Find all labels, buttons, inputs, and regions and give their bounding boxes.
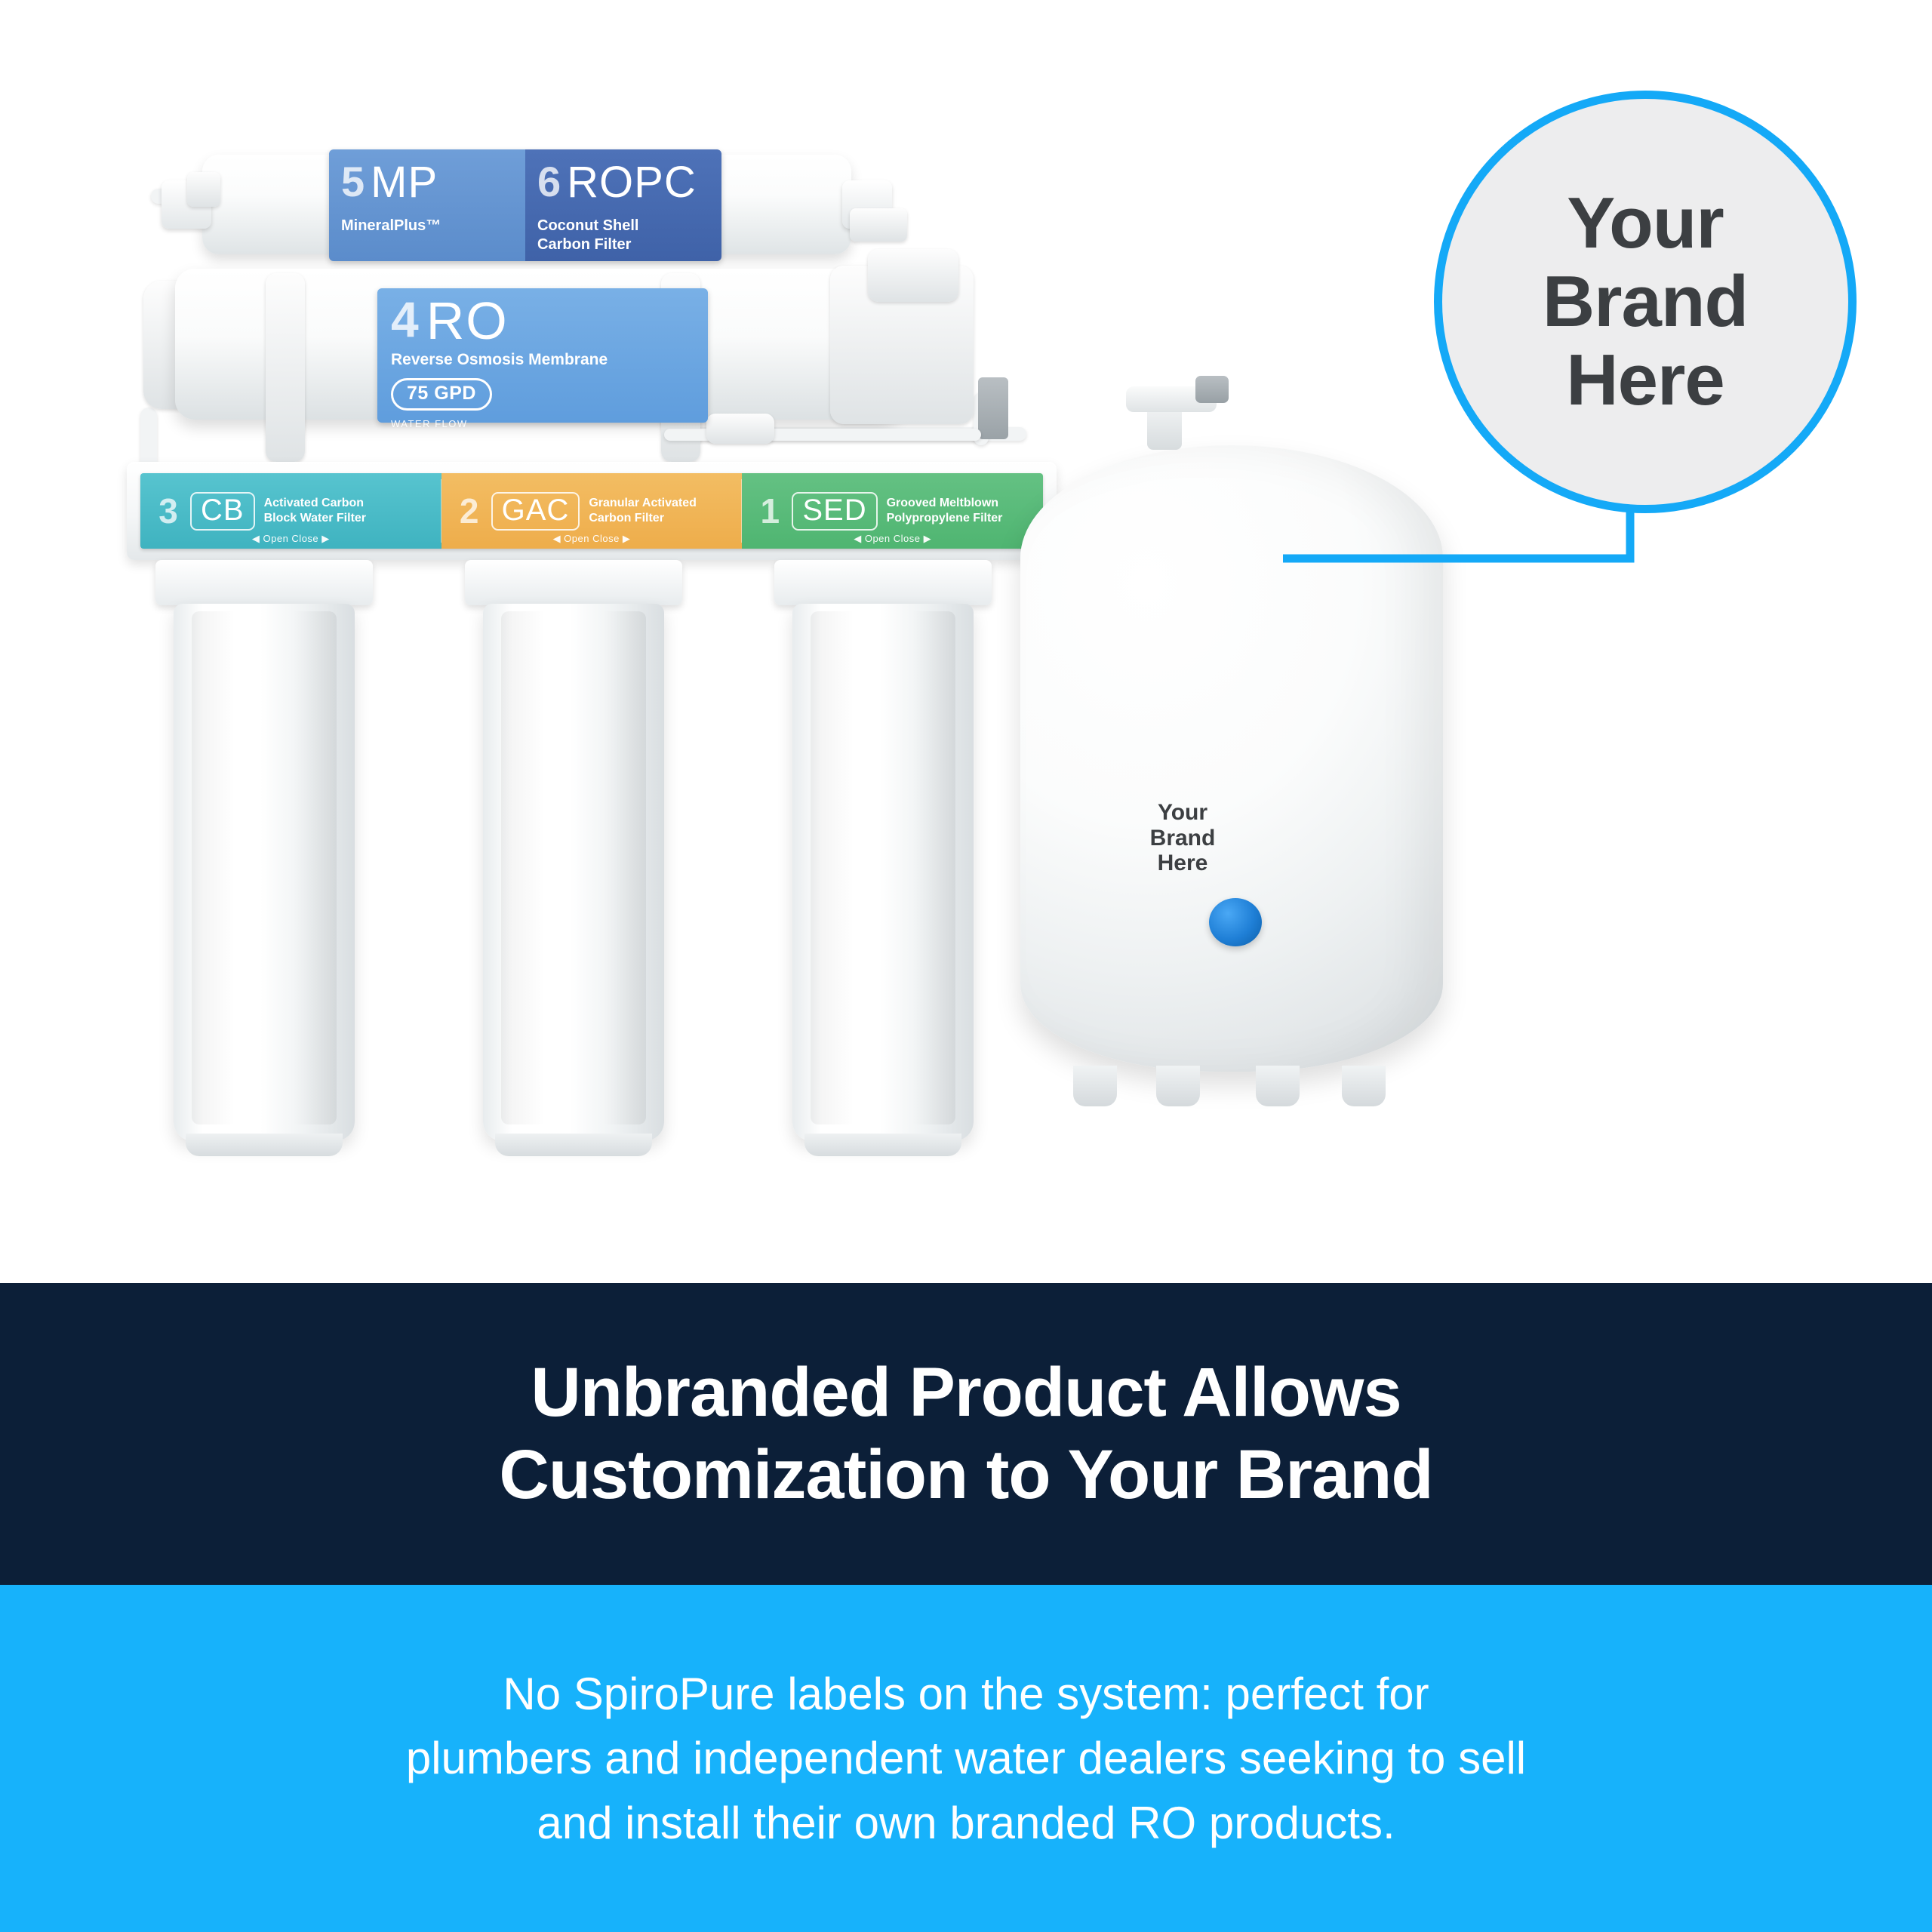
ro-gpd-badge: 75 GPD [391,378,492,411]
sump-collar [465,560,682,605]
headline: Unbranded Product Allows Customization t… [499,1352,1432,1515]
stage-desc-mp: MineralPlus™ [341,217,525,235]
stage-desc-cb-line1: Activated Carbon [264,497,364,509]
brand-callout-circle: Your Brand Here [1434,91,1857,513]
headline-line2: Customization to Your Brand [499,1436,1432,1513]
sump-foot [186,1134,343,1156]
tank-pressure-valve [1209,898,1262,946]
stage-label-ropc: 6 ROPC Coconut Shell Carbon Filter [525,149,721,261]
stage-code-mp: MP [371,162,438,205]
ro-valve-head [868,249,958,302]
description-footer: No SpiroPure labels on the system: perfe… [0,1585,1932,1932]
stage-desc-sed-line1: Grooved Meltblown [887,497,998,509]
ro-description: Reverse Osmosis Membrane [391,351,708,369]
inline-filter-labels: 5 MP MineralPlus™ 6 ROPC Coconut Shell C… [329,149,721,261]
sump-collar [155,560,373,605]
stage-desc-gac-line1: Granular Activated [589,497,697,509]
stage-code-gac: GAC [491,492,580,531]
stage-number-3: 3 [151,494,186,528]
filter-sump-sed [770,560,996,1186]
product-photo: 5 MP MineralPlus™ 6 ROPC Coconut Shell C… [0,0,1932,1283]
filter-sump-gac [460,560,687,1186]
tank-valve-knob [1195,376,1229,403]
tank-leg [1342,1066,1386,1106]
sump-body [792,604,974,1141]
stage-number-5: 5 [341,162,365,202]
stage-number-4: 4 [391,296,419,343]
open-close-sed: ◀ Open Close ▶ [742,533,1043,545]
tank-legs [1051,1061,1413,1106]
open-close-gac: ◀ Open Close ▶ [441,533,743,545]
stage-desc-sed-line2: Polypropylene Filter [887,512,1003,525]
stage-code-ropc: ROPC [567,162,697,205]
footer-line2: plumbers and independent water dealers s… [406,1733,1526,1783]
filter-sump-cb [151,560,377,1186]
tank-brand-decal: Your Brand Here [1118,800,1247,876]
stage-code-cb: CB [190,492,255,531]
stage-code-sed: SED [792,492,877,531]
ro-flow-label: WATER FLOW [391,418,708,429]
tank-decal-line3: Here [1118,851,1247,876]
sump-collar [774,560,992,605]
sump-foot [804,1134,961,1156]
stage-label-mp: 5 MP MineralPlus™ [329,149,525,261]
flow-restrictor [978,377,1008,439]
sump-foot [495,1134,652,1156]
stage-desc-ropc-line2: Carbon Filter [537,235,721,254]
stage-label-gac: 2 GAC Granular Activated Carbon Filter ◀… [441,473,743,549]
footer-line3: and install their own branded RO product… [537,1798,1395,1848]
callout-line1: Your [1543,184,1748,263]
stage-number-2: 2 [452,494,487,528]
stage-desc-cb-line2: Block Water Filter [264,512,366,525]
tank-decal-line1: Your [1118,800,1247,826]
stage-code-ro: RO [426,296,509,346]
inline-fitting-right [850,208,907,241]
footer-line1: No SpiroPure labels on the system: perfe… [503,1669,1429,1719]
storage-tank: Your Brand Here [1020,445,1443,1072]
headline-line1: Unbranded Product Allows [531,1354,1401,1431]
stage-label-cb: 3 CB Activated Carbon Block Water Filter… [140,473,441,549]
tank-leg [1256,1066,1300,1106]
sump-body [483,604,664,1141]
callout-line3: Here [1543,341,1748,420]
open-close-cb: ◀ Open Close ▶ [140,533,441,545]
callout-text: Your Brand Here [1543,184,1748,419]
headline-banner: Unbranded Product Allows Customization t… [0,1283,1932,1585]
stage-desc-ropc-line1: Coconut Shell [537,217,721,235]
callout-line2: Brand [1543,263,1748,341]
inline-fitting-left [187,172,220,207]
stage-number-6: 6 [537,162,561,202]
ro-membrane-label: 4 RO Reverse Osmosis Membrane 75 GPD WAT… [377,288,708,423]
elbow-fitting [706,414,774,444]
stage-desc-gac-line2: Carbon Filter [589,512,664,525]
manifold-post-left [266,273,305,462]
tank-decal-line2: Brand [1118,826,1247,851]
marketing-image: 5 MP MineralPlus™ 6 ROPC Coconut Shell C… [0,0,1932,1932]
stage-number-1: 1 [752,494,787,528]
stage-label-sed: 1 SED Grooved Meltblown Polypropylene Fi… [742,473,1043,549]
tank-leg [1073,1066,1117,1106]
stage-label-strip: 3 CB Activated Carbon Block Water Filter… [140,473,1043,549]
tank-leg [1156,1066,1200,1106]
footer-body: No SpiroPure labels on the system: perfe… [406,1662,1526,1855]
sump-body [174,604,355,1141]
